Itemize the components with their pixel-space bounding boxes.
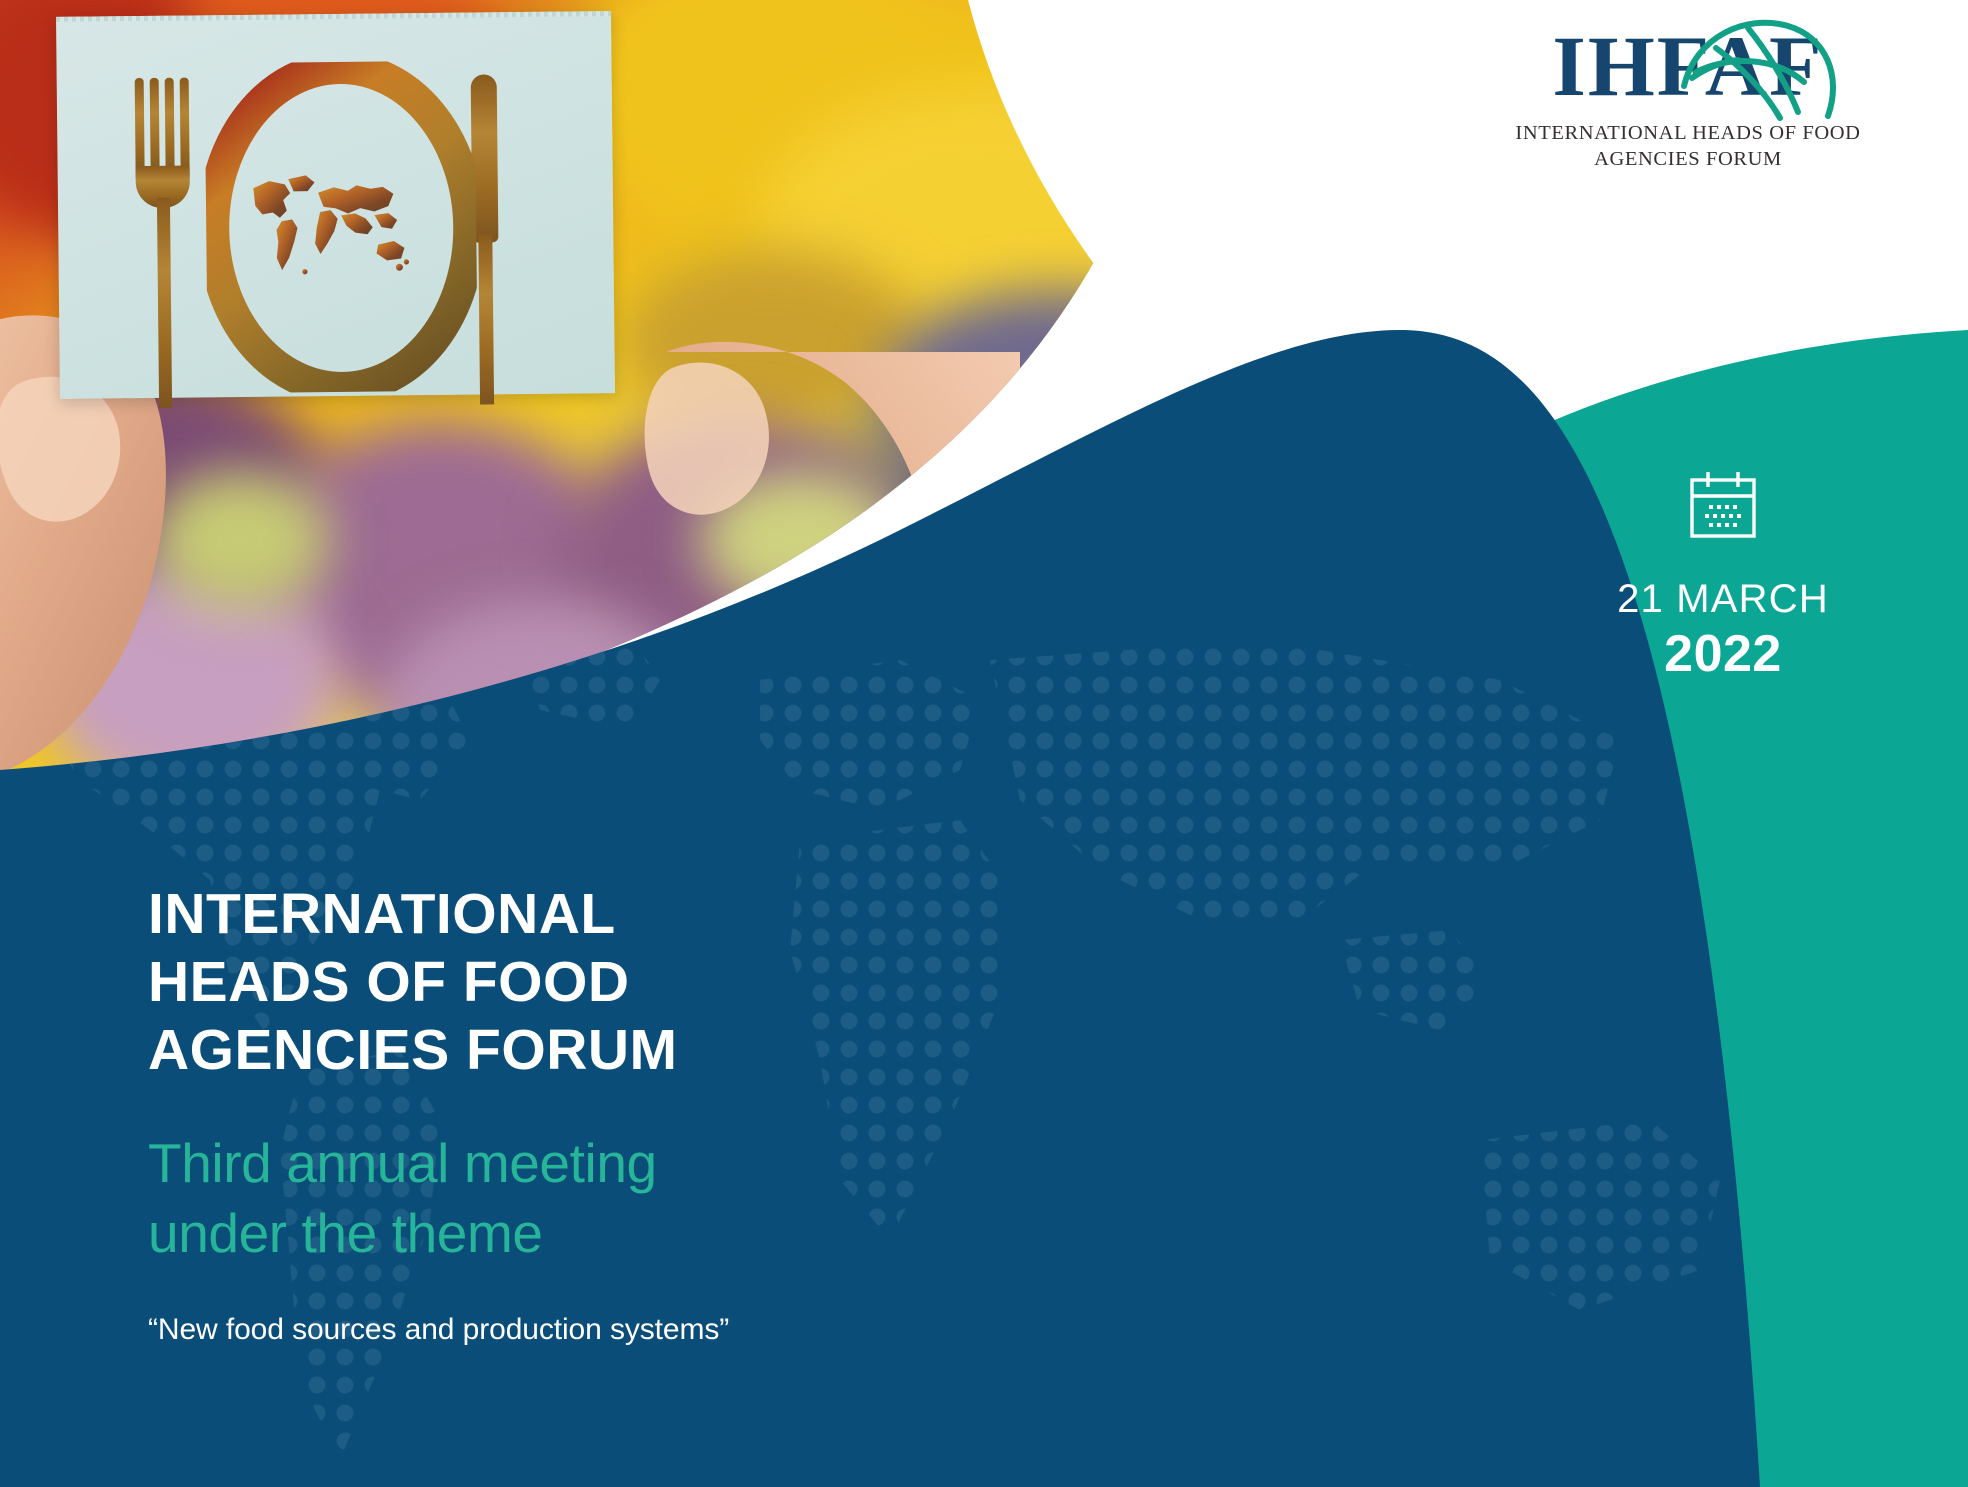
page-title-line2: HEADS OF FOOD: [148, 948, 1048, 1016]
poster-canvas: IHFAF INTERNATIONAL HEADS OF FOOD AGENCI…: [0, 0, 1968, 1487]
theme-quote: “New food sources and production systems…: [148, 1310, 1048, 1350]
ihfaf-logo: IHFAF INTERNATIONAL HEADS OF FOOD AGENCI…: [1478, 14, 1898, 164]
title-block: INTERNATIONAL HEADS OF FOOD AGENCIES FOR…: [148, 880, 1048, 1350]
page-title-line1: INTERNATIONAL: [148, 880, 1048, 948]
globe-arc-icon: [1676, 12, 1856, 124]
event-date-day-month: 21 MARCH: [1563, 577, 1883, 621]
event-date-year: 2022: [1563, 625, 1883, 683]
held-card: [56, 11, 615, 399]
fork-icon: [135, 77, 208, 408]
page-title-line3: AGENCIES FORUM: [148, 1016, 1048, 1084]
subtitle-line1: Third annual meeting: [148, 1128, 1048, 1198]
subtitle-line2: under the theme: [148, 1198, 1048, 1268]
logo-subtitle-line2: AGENCIES FORUM: [1478, 146, 1898, 172]
world-map-icon: [243, 163, 419, 287]
calendar-icon: [1686, 470, 1760, 542]
event-date-block: 21 MARCH 2022: [1563, 470, 1883, 683]
logo-mark: IHFAF: [1478, 14, 1898, 118]
